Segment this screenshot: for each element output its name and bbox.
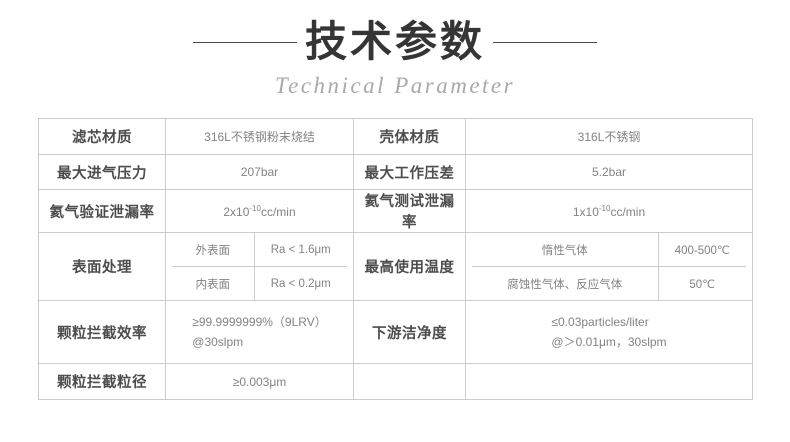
title-rule-left [193,42,297,43]
row-label-empty [354,364,466,400]
particle-efficiency-line2: @30slpm [192,335,243,349]
table-row: 表面处理 外表面 Ra < 1.6μm 内表面 Ra < 0.2μm [39,233,753,301]
downstream-cleanliness-line1: ≤0.03particles/liter [551,315,648,329]
row-value-filter-material: 316L不锈钢粉末烧结 [166,119,354,155]
row-label-particle-retention-efficiency: 颗粒拦截效率 [39,301,166,364]
spec-table-container: 滤芯材质 316L不锈钢粉末烧结 壳体材质 316L不锈钢 最大进气压力 207… [38,118,752,400]
sub-row: 内表面 Ra < 0.2μm [172,267,347,301]
row-value-housing-material: 316L不锈钢 [466,119,753,155]
leak-rate-exponent-right: -10 [599,204,611,213]
particle-efficiency-text: ≥99.9999999%（9LRV） @30slpm [192,312,326,352]
row-label-particle-retention-size: 颗粒拦截粒径 [39,364,166,400]
table-row: 颗粒拦截粒径 ≥0.003μm [39,364,753,400]
row-label-helium-verification-leak-rate: 氦气验证泄漏率 [39,190,166,233]
page-title: 技术参数 [305,16,485,68]
leak-rate-unit-right: cc/min [610,205,645,219]
page-header: 技术参数 Technical Parameter [0,0,790,100]
row-value-max-inlet-pressure: 207bar [166,155,354,190]
sub-value-inert-gas-temperature: 400-500℃ [658,233,746,267]
particle-efficiency-line1: ≥99.9999999%（9LRV） [192,315,326,329]
page-subtitle: Technical Parameter [0,72,790,100]
leak-rate-unit-left: cc/min [261,205,296,219]
table-row: 氦气验证泄漏率 2x10-10cc/min 氦气测试泄漏率 1x10-10cc/… [39,190,753,233]
leak-rate-exponent-left: -10 [249,204,261,213]
sub-label-inner-surface: 内表面 [172,267,254,301]
sub-label-inert-gas: 惰性气体 [472,233,658,267]
sub-label-outer-surface: 外表面 [172,233,254,267]
sub-row: 惰性气体 400-500℃ [472,233,746,267]
downstream-cleanliness-text: ≤0.03particles/liter @＞0.01μm，30slpm [551,312,666,352]
sub-row: 外表面 Ra < 1.6μm [172,233,347,267]
row-value-helium-verification-leak-rate: 2x10-10cc/min [166,190,354,233]
sub-label-corrosive-reactive-gas: 腐蚀性气体、反应气体 [472,267,658,301]
surface-treatment-subtable: 外表面 Ra < 1.6μm 内表面 Ra < 0.2μm [172,233,347,300]
surface-treatment-subtable-cell: 外表面 Ra < 1.6μm 内表面 Ra < 0.2μm [166,233,354,301]
sub-value-inner-surface: Ra < 0.2μm [254,267,347,301]
table-row: 滤芯材质 316L不锈钢粉末烧结 壳体材质 316L不锈钢 [39,119,753,155]
max-temperature-subtable: 惰性气体 400-500℃ 腐蚀性气体、反应气体 50℃ [472,233,746,300]
leak-rate-base-left: 2x10 [223,205,249,219]
title-row: 技术参数 [0,16,790,68]
row-label-max-inlet-pressure: 最大进气压力 [39,155,166,190]
row-label-housing-material: 壳体材质 [354,119,466,155]
sub-value-corrosive-reactive-gas-temperature: 50℃ [658,267,746,301]
row-label-filter-material: 滤芯材质 [39,119,166,155]
row-label-downstream-cleanliness: 下游洁净度 [354,301,466,364]
table-row: 最大进气压力 207bar 最大工作压差 5.2bar [39,155,753,190]
row-value-empty [466,364,753,400]
row-value-helium-test-leak-rate: 1x10-10cc/min [466,190,753,233]
max-temperature-subtable-cell: 惰性气体 400-500℃ 腐蚀性气体、反应气体 50℃ [466,233,753,301]
downstream-cleanliness-line2: @＞0.01μm，30slpm [551,335,666,349]
sub-row: 腐蚀性气体、反应气体 50℃ [472,267,746,301]
leak-rate-base-right: 1x10 [573,205,599,219]
table-row: 颗粒拦截效率 ≥99.9999999%（9LRV） @30slpm 下游洁净度 … [39,301,753,364]
row-label-surface-treatment: 表面处理 [39,233,166,301]
row-label-max-differential-pressure: 最大工作压差 [354,155,466,190]
row-value-max-differential-pressure: 5.2bar [466,155,753,190]
row-value-particle-retention-size: ≥0.003μm [166,364,354,400]
row-value-particle-retention-efficiency: ≥99.9999999%（9LRV） @30slpm [166,301,354,364]
title-rule-right [493,42,597,43]
sub-value-outer-surface: Ra < 1.6μm [254,233,347,267]
spec-table: 滤芯材质 316L不锈钢粉末烧结 壳体材质 316L不锈钢 最大进气压力 207… [38,118,753,400]
row-label-helium-test-leak-rate: 氦气测试泄漏率 [354,190,466,233]
row-label-max-operating-temperature: 最高使用温度 [354,233,466,301]
row-value-downstream-cleanliness: ≤0.03particles/liter @＞0.01μm，30slpm [466,301,753,364]
